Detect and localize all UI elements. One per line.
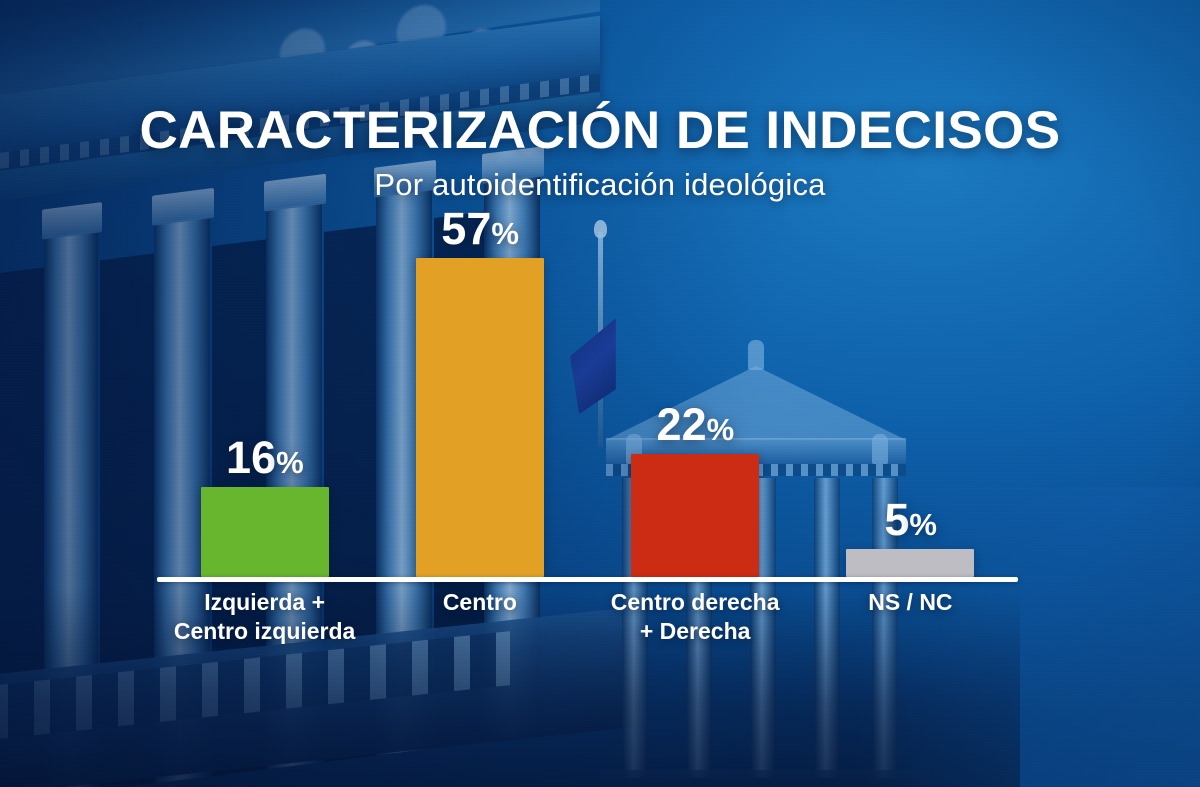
percent-sign: % bbox=[909, 507, 936, 542]
percent-sign: % bbox=[491, 216, 518, 251]
bar-column: 16% bbox=[201, 435, 329, 577]
bar-column: 22% bbox=[631, 402, 759, 577]
bar-group-centro-derecha-derecha: 22%Centro derecha + Derecha bbox=[588, 225, 803, 577]
bar-ns-nc[interactable] bbox=[846, 549, 974, 577]
bar-value-label-izquierda-centro-izquierda: 16% bbox=[226, 435, 303, 480]
page-title: CARACTERIZACIÓN DE INDECISOS bbox=[0, 104, 1200, 158]
bar-value-label-ns-nc: 5% bbox=[884, 497, 936, 542]
bar-value-label-centro-derecha-derecha: 22% bbox=[657, 402, 734, 447]
bar-group-izquierda-centro-izquierda: 16%Izquierda + Centro izquierda bbox=[157, 225, 372, 577]
bar-value-label-centro: 57% bbox=[441, 206, 518, 251]
page-subtitle: Por autoidentificación ideológica bbox=[0, 167, 1200, 203]
bar-value-number: 5 bbox=[884, 494, 909, 545]
bar-izquierda-centro-izquierda[interactable] bbox=[201, 487, 329, 577]
bar-group-centro: 57%Centro bbox=[372, 225, 587, 577]
category-label-ns-nc: NS / NC bbox=[780, 588, 1040, 617]
bar-group-ns-nc: 5%NS / NC bbox=[803, 225, 1018, 577]
bar-centro-derecha-derecha[interactable] bbox=[631, 454, 759, 577]
percent-sign: % bbox=[276, 445, 303, 480]
bar-centro[interactable] bbox=[416, 258, 544, 577]
infographic-canvas: CARACTERIZACIÓN DE INDECISOS Por autoide… bbox=[0, 0, 1200, 787]
percent-sign: % bbox=[707, 412, 734, 447]
bar-column: 57% bbox=[416, 206, 544, 577]
chart-baseline bbox=[157, 577, 1018, 582]
bar-value-number: 22 bbox=[657, 399, 707, 450]
bar-value-number: 16 bbox=[226, 432, 276, 483]
header: CARACTERIZACIÓN DE INDECISOS Por autoide… bbox=[0, 104, 1200, 203]
bar-chart: 16%Izquierda + Centro izquierda57%Centro… bbox=[157, 230, 1018, 582]
bar-column: 5% bbox=[846, 497, 974, 577]
bar-value-number: 57 bbox=[441, 203, 491, 254]
